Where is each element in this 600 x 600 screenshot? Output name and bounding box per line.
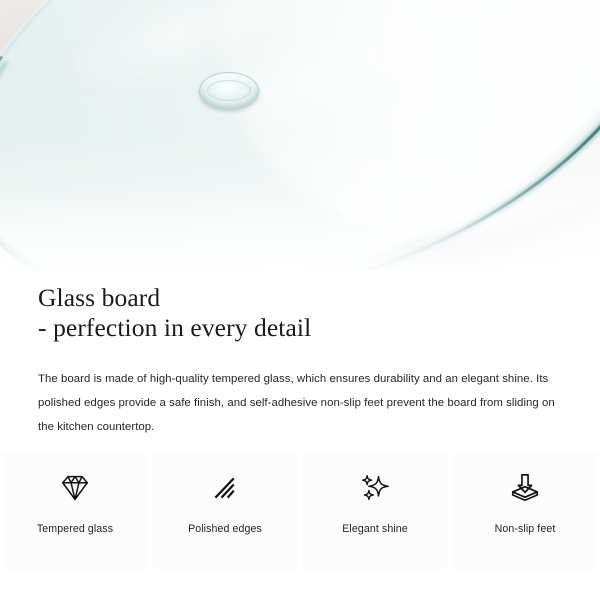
feature-label: Non-slip feet	[495, 523, 556, 536]
photo-white-fade	[0, 135, 600, 285]
sparkle-icon	[353, 466, 397, 510]
body-paragraph: The board is made of high-quality temper…	[0, 343, 600, 439]
non-slip-feet-icon	[503, 466, 547, 510]
polished-edges-icon	[203, 466, 247, 510]
feature-label: Tempered glass	[37, 523, 113, 536]
feature-elegant-shine: Elegant shine	[302, 452, 448, 570]
diamond-icon	[53, 466, 97, 510]
non-slip-foot	[199, 72, 259, 110]
headline-line-1: Glass board	[38, 283, 562, 313]
feature-tempered-glass: Tempered glass	[2, 452, 148, 570]
feature-polished-edges: Polished edges	[152, 452, 298, 570]
copy-block: Glass board - perfection in every detail…	[0, 283, 600, 439]
headline-line-2: - perfection in every detail	[38, 313, 562, 343]
feature-strip: Tempered glass Polished edges Elegan	[0, 452, 600, 570]
product-photo	[0, 0, 600, 285]
feature-label: Elegant shine	[342, 523, 408, 536]
product-banner: Glass board - perfection in every detail…	[0, 0, 600, 600]
feature-label: Polished edges	[188, 523, 262, 536]
non-slip-foot-inner	[207, 80, 251, 101]
feature-non-slip-feet: Non-slip feet	[452, 452, 598, 570]
page-title: Glass board - perfection in every detail	[0, 283, 600, 343]
